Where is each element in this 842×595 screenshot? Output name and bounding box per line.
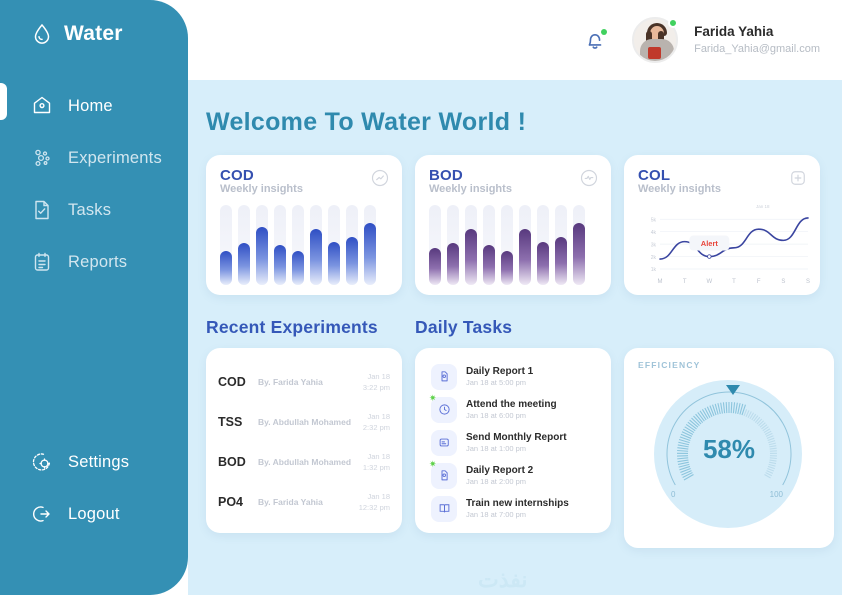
bar-track (429, 205, 441, 285)
sidebar-nav: Home Experiments Tasks (0, 80, 188, 288)
chart-card-bod[interactable]: BOD Weekly insights (415, 155, 611, 295)
task-row[interactable]: Train new internshipsJan 18 at 7:00 pm (425, 492, 601, 525)
recent-experiments-heading: Recent Experiments (206, 317, 415, 338)
task-icon-bg (431, 430, 457, 456)
chart-subtitle: Weekly insights (429, 183, 597, 195)
bar-track (292, 205, 304, 285)
y-tick-label: 1k (651, 267, 657, 273)
experiment-date: Jan 18 (363, 411, 390, 422)
experiment-row[interactable]: CODBy. Farida YahiaJan 183:22 pm (218, 362, 390, 402)
task-subtitle: Jan 18 at 6:00 pm (466, 411, 557, 420)
bar-fill (465, 229, 477, 285)
chart-subtitle: Weekly insights (220, 183, 388, 195)
experiment-timestamp: Jan 1812:32 pm (359, 491, 390, 514)
bar-track (220, 205, 232, 285)
sidebar-bottom-nav: Settings Logout (0, 436, 188, 540)
experiment-code: COD (218, 375, 252, 389)
section-headings: Recent Experiments Daily Tasks (206, 317, 842, 338)
bar-track (519, 205, 531, 285)
reports-icon (30, 250, 54, 274)
gauge-tick (685, 427, 694, 433)
experiment-time: 12:32 pm (359, 502, 390, 513)
x-tick-label: S (806, 279, 810, 285)
task-subtitle: Jan 18 at 2:00 pm (466, 477, 533, 486)
bar-fill (501, 251, 513, 285)
experiment-time: 3:22 pm (363, 382, 390, 393)
experiment-time: 1:32 pm (363, 462, 390, 473)
sidebar-item-label: Tasks (68, 201, 111, 220)
chart-cards-row: COD Weekly insights BOD Weekly insights (206, 155, 842, 295)
y-tick-label: 4k (651, 230, 657, 236)
experiments-icon (30, 146, 54, 170)
bar-track (483, 205, 495, 285)
document-report-icon (437, 468, 452, 483)
gauge-needle-marker (726, 385, 740, 395)
experiment-author: By. Farida Yahia (252, 497, 359, 507)
gauge-tick (723, 402, 724, 413)
experiment-author: By. Abdullah Mohamed (252, 457, 363, 467)
book-icon (437, 501, 452, 516)
experiment-date: Jan 18 (363, 371, 390, 382)
x-tick-label: M (658, 279, 663, 285)
experiment-row[interactable]: PO4By. Farida YahiaJan 1812:32 pm (218, 482, 390, 522)
task-icon-bg (431, 364, 457, 390)
alert-tooltip-label: Alert (701, 239, 719, 248)
user-email: Farida_Yahia@gmail.com (694, 42, 820, 57)
gauge-tick (767, 469, 774, 471)
task-title: Send Monthly Report (466, 432, 567, 443)
bar-fill (447, 243, 459, 285)
bar-fill (256, 227, 268, 285)
main-content: Welcome To Water World ! COD Weekly insi… (188, 80, 842, 595)
line-chart-col: 5k4k3k2k1kAlertJan 18MTWTFSS (638, 199, 806, 291)
sidebar-item-experiments[interactable]: Experiments (0, 132, 188, 184)
task-text: Daily Report 2Jan 18 at 2:00 pm (466, 465, 533, 486)
gauge-tick (744, 409, 747, 416)
document-report-icon (437, 369, 452, 384)
add-box-icon (788, 168, 808, 188)
tasks-icon (30, 198, 54, 222)
task-icon-wrap: ✷ (431, 463, 457, 489)
bar-fill (238, 243, 250, 285)
chart-title: BOD (429, 167, 597, 184)
task-title: Attend the meeting (466, 399, 557, 410)
home-icon (30, 94, 54, 118)
bar-chart-bod (429, 201, 597, 285)
brand: Water (0, 0, 188, 46)
gauge-value: 58% (638, 434, 820, 465)
sidebar-item-settings[interactable]: Settings (0, 436, 188, 488)
brand-name: Water (64, 22, 123, 46)
task-title: Daily Report 2 (466, 465, 533, 476)
bar-track (346, 205, 358, 285)
bar-track (555, 205, 567, 285)
avatar[interactable] (632, 17, 678, 63)
bar-fill (364, 223, 376, 285)
card-send-icon (437, 435, 452, 450)
avatar-book (648, 47, 661, 59)
bar-track (364, 205, 376, 285)
panels-row: CODBy. Farida YahiaJan 183:22 pmTSSBy. A… (206, 348, 842, 548)
online-status-dot (668, 18, 678, 28)
bar-fill (555, 237, 567, 285)
line-chart-svg: 5k4k3k2k1kAlertJan 18MTWTFSS (638, 199, 810, 291)
gauge-tick (686, 424, 695, 430)
gauge-max-label: 100 (770, 490, 783, 499)
task-title: Train new internships (466, 498, 569, 509)
chart-title: COL (638, 167, 806, 184)
bar-track (573, 205, 585, 285)
sidebar-item-home[interactable]: Home (0, 80, 188, 132)
sidebar-item-label: Reports (68, 253, 127, 272)
gauge-tick (718, 403, 720, 414)
user-info[interactable]: Farida Yahia Farida_Yahia@gmail.com (694, 23, 820, 56)
y-tick-label: 2k (651, 255, 657, 261)
chart-annotation: Jan 18 (756, 204, 770, 209)
experiment-row[interactable]: BODBy. Abdullah MohamedJan 181:32 pm (218, 442, 390, 482)
recent-experiments-panel: CODBy. Farida YahiaJan 183:22 pmTSSBy. A… (206, 348, 402, 533)
bar-fill (429, 248, 441, 285)
task-flag-icon: ✷ (429, 394, 437, 403)
task-subtitle: Jan 18 at 7:00 pm (466, 510, 569, 519)
bar-fill (346, 237, 358, 285)
efficiency-panel: EFFICIENCY 58% 0 100 (624, 348, 834, 548)
user-name: Farida Yahia (694, 23, 820, 41)
sidebar-item-logout[interactable]: Logout (0, 488, 188, 540)
speedometer-icon (370, 168, 390, 188)
y-tick-label: 3k (651, 242, 657, 248)
daily-tasks-panel: Daily Report 1Jan 18 at 5:00 pm✷Attend t… (415, 348, 611, 533)
efficiency-label: EFFICIENCY (638, 360, 820, 370)
bar-track (537, 205, 549, 285)
experiment-code: BOD (218, 455, 252, 469)
task-subtitle: Jan 18 at 1:00 pm (466, 444, 567, 453)
gauge-tick (736, 403, 738, 414)
sidebar-item-label: Settings (68, 453, 129, 472)
task-icon-wrap (431, 364, 457, 390)
sidebar-item-label: Experiments (68, 149, 162, 168)
gauge-tick (768, 466, 775, 468)
sidebar-item-label: Logout (68, 505, 120, 524)
chart-title: COD (220, 167, 388, 184)
task-title: Daily Report 1 (466, 366, 533, 377)
experiment-timestamp: Jan 183:22 pm (363, 371, 390, 394)
bar-track (447, 205, 459, 285)
page-title: Welcome To Water World ! (206, 108, 842, 137)
gauge-min-label: 0 (671, 490, 675, 499)
x-tick-label: F (757, 279, 761, 285)
gauge-tick (731, 402, 732, 413)
line-series (660, 218, 808, 259)
pulse-icon (579, 168, 599, 188)
gauge-tick (702, 409, 708, 418)
bar-track (310, 205, 322, 285)
task-row[interactable]: Send Monthly ReportJan 18 at 1:00 pm (425, 426, 601, 459)
logout-icon (30, 502, 54, 526)
sidebar-item-tasks[interactable]: Tasks (0, 184, 188, 236)
bar-fill (519, 229, 531, 285)
bar-fill (483, 245, 495, 285)
task-icon-wrap (431, 430, 457, 456)
chart-card-cod[interactable]: COD Weekly insights (206, 155, 402, 295)
chart-subtitle: Weekly insights (638, 183, 806, 195)
notifications-button[interactable] (582, 27, 608, 53)
task-icon-wrap (431, 496, 457, 522)
gauge-tick (733, 402, 734, 413)
bar-fill (292, 251, 304, 285)
sidebar: Water Home Experiments (0, 0, 188, 595)
bar-fill (573, 223, 585, 285)
task-icon-wrap: ✷ (431, 397, 457, 423)
sidebar-item-label: Home (68, 97, 113, 116)
watermark: نفذت (478, 567, 528, 593)
experiment-author: By. Abdullah Mohamed (252, 417, 363, 427)
experiment-code: PO4 (218, 495, 252, 509)
bar-fill (537, 242, 549, 285)
bar-chart-cod (220, 201, 388, 285)
bar-fill (310, 229, 322, 285)
settings-gear-icon (30, 450, 54, 474)
x-tick-label: T (732, 279, 736, 285)
data-point-marker (708, 255, 712, 259)
x-tick-label: W (706, 279, 712, 285)
task-text: Send Monthly ReportJan 18 at 1:00 pm (466, 432, 567, 453)
experiment-author: By. Farida Yahia (252, 377, 363, 387)
experiment-timestamp: Jan 182:32 pm (363, 411, 390, 434)
efficiency-gauge: 58% 0 100 (638, 372, 820, 532)
sidebar-active-indicator (0, 83, 7, 120)
gauge-tick (721, 403, 723, 414)
bar-fill (220, 251, 232, 285)
gauge-tick (726, 402, 727, 413)
chart-card-col[interactable]: COL Weekly insights 5k4k3k2k1kAlertJan 1… (624, 155, 820, 295)
gauge-tick (684, 475, 694, 481)
task-text: Daily Report 1Jan 18 at 5:00 pm (466, 366, 533, 387)
bar-fill (328, 242, 340, 285)
experiment-date: Jan 18 (359, 491, 390, 502)
bar-track (501, 205, 513, 285)
header: Farida Yahia Farida_Yahia@gmail.com (188, 0, 842, 80)
gauge-tick (700, 411, 706, 420)
bar-track (465, 205, 477, 285)
clock-icon (437, 402, 452, 417)
experiment-code: TSS (218, 415, 252, 429)
bar-track (274, 205, 286, 285)
task-icon-bg (431, 496, 457, 522)
gauge-tick (705, 408, 710, 418)
daily-tasks-heading: Daily Tasks (415, 317, 624, 338)
experiment-date: Jan 18 (363, 451, 390, 462)
water-drop-icon (30, 22, 54, 46)
task-flag-icon: ✷ (429, 460, 437, 469)
x-tick-label: T (683, 279, 687, 285)
dashboard-root: Water Home Experiments (0, 0, 842, 595)
task-row[interactable]: ✷Attend the meetingJan 18 at 6:00 pm (425, 393, 601, 426)
task-text: Attend the meetingJan 18 at 6:00 pm (466, 399, 557, 420)
y-tick-label: 5k (651, 217, 657, 223)
bar-track (256, 205, 268, 285)
task-row[interactable]: Daily Report 1Jan 18 at 5:00 pm (425, 360, 601, 393)
task-subtitle: Jan 18 at 5:00 pm (466, 378, 533, 387)
experiment-timestamp: Jan 181:32 pm (363, 451, 390, 474)
task-row[interactable]: ✷Daily Report 2Jan 18 at 2:00 pm (425, 459, 601, 492)
bar-fill (274, 245, 286, 285)
task-text: Train new internshipsJan 18 at 7:00 pm (466, 498, 569, 519)
x-tick-label: S (781, 279, 785, 285)
gauge-tick (738, 403, 740, 414)
bar-track (328, 205, 340, 285)
bar-track (238, 205, 250, 285)
experiment-time: 2:32 pm (363, 422, 390, 433)
experiment-row[interactable]: TSSBy. Abdullah MohamedJan 182:32 pm (218, 402, 390, 442)
sidebar-item-reports[interactable]: Reports (0, 236, 188, 288)
